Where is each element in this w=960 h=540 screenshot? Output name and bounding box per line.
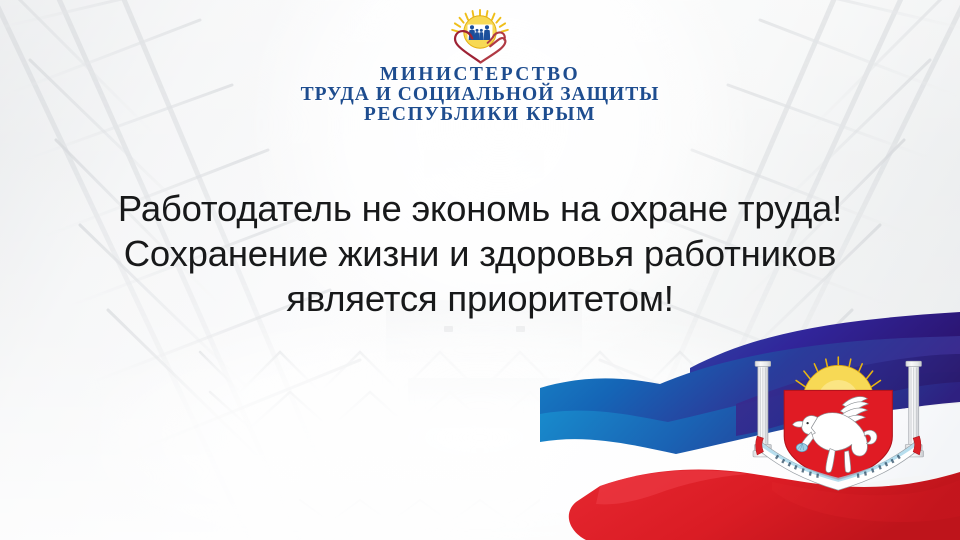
ministry-title-line-3: РЕСПУБЛИКИ КРЫМ — [0, 105, 960, 125]
ministry-emblem-icon — [434, 6, 526, 64]
ministry-title-block: МИНИСТЕРСТВО ТРУДА И СОЦИАЛЬНОЙ ЗАЩИТЫ Р… — [0, 65, 960, 125]
poster-canvas: МИНИСТЕРСТВО ТРУДА И СОЦИАЛЬНОЙ ЗАЩИТЫ Р… — [0, 0, 960, 540]
slogan-line-1: Работодатель не экономь на охране труда! — [80, 186, 880, 231]
ministry-title-line-1: МИНИСТЕРСТВО — [0, 65, 960, 85]
slogan-line-3: является приоритетом! — [80, 276, 880, 321]
ministry-title-line-2: ТРУДА И СОЦИАЛЬНОЙ ЗАЩИТЫ — [0, 85, 960, 105]
slogan-line-2: Сохранение жизни и здоровья работников — [80, 231, 880, 276]
slogan-text-block: Работодатель не экономь на охране труда!… — [80, 186, 880, 321]
ministry-header: МИНИСТЕРСТВО ТРУДА И СОЦИАЛЬНОЙ ЗАЩИТЫ Р… — [0, 6, 960, 125]
